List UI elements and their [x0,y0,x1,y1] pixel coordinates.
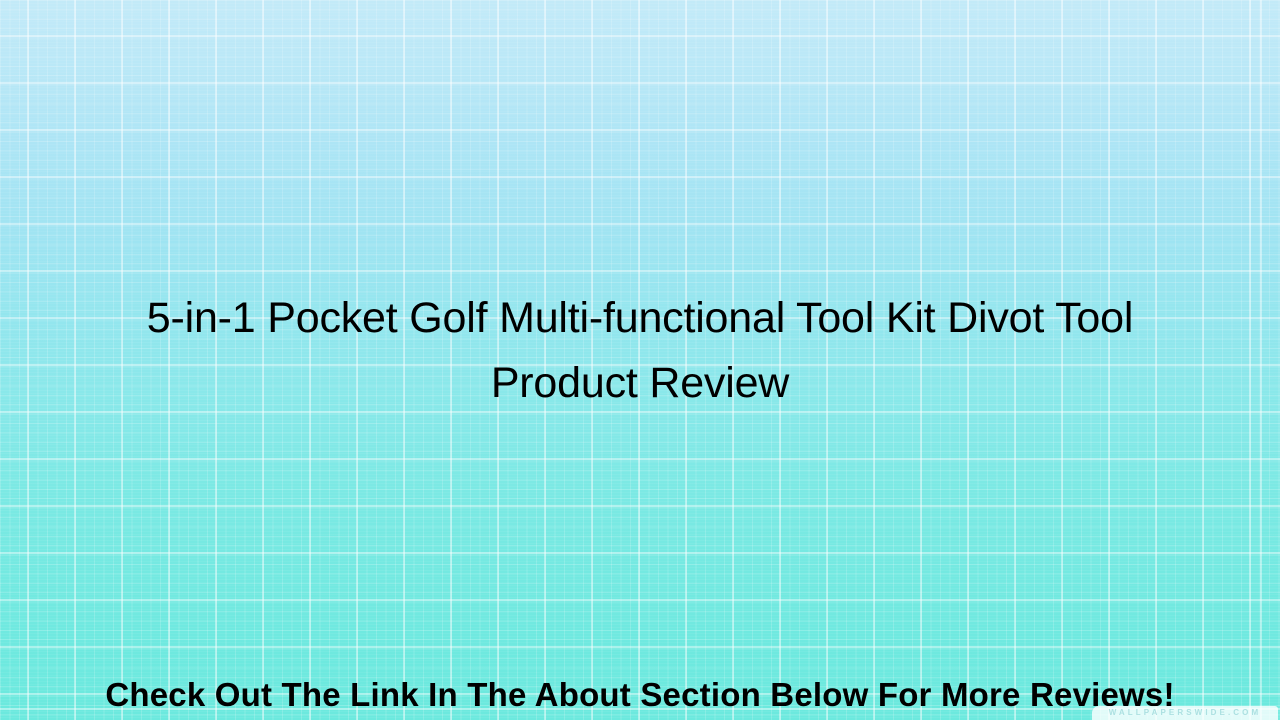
call-to-action-banner: Check Out The Link In The About Section … [0,672,1280,718]
watermark-badge: WALLPAPERSWIDE.COM [1092,706,1278,720]
product-title-line-2: Product Review [18,351,1262,416]
product-title: 5-in-1 Pocket Golf Multi-functional Tool… [0,286,1280,416]
call-to-action-text: Check Out The Link In The About Section … [105,672,1174,718]
watermark-text: WALLPAPERSWIDE.COM [1109,706,1262,720]
product-title-line-1: 5-in-1 Pocket Golf Multi-functional Tool… [18,286,1262,351]
slide-canvas: 5-in-1 Pocket Golf Multi-functional Tool… [0,0,1280,720]
